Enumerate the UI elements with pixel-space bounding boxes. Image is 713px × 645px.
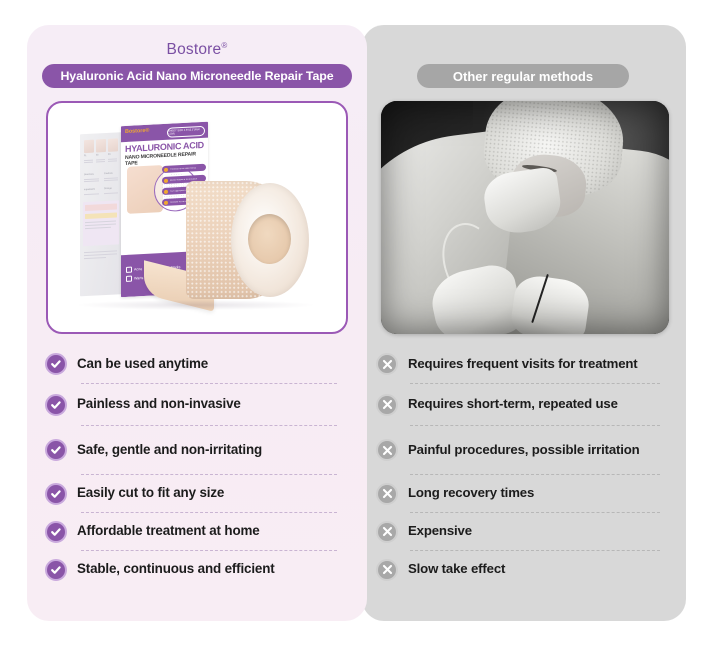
check-icon	[45, 483, 67, 505]
check-icon	[45, 394, 67, 416]
tape-roll-core	[248, 214, 291, 264]
list-item-label: Affordable treatment at home	[77, 524, 260, 539]
list-item-label: Long recovery times	[408, 486, 534, 501]
cross-icon	[376, 521, 398, 543]
box-use: Acne	[126, 266, 142, 273]
box-use-label: Acne	[134, 267, 142, 271]
leaf-icon	[126, 267, 132, 273]
box-use: Warts	[126, 275, 143, 282]
bullet-dot	[164, 189, 168, 193]
product-shadow	[78, 300, 313, 310]
box-size-chip: SHEET SIZE 1.6"x3.1"(Roll 5.5M)	[167, 126, 205, 138]
list-item-label: Easily cut to fit any size	[77, 486, 224, 501]
list-item: Safe, gentle and non-irritating	[45, 426, 351, 474]
drawbacks-list: Requires frequent visits for treatment R…	[376, 345, 674, 588]
product-title-pill: Hyaluronic Acid Nano Microneedle Repair …	[42, 64, 352, 88]
list-item: Requires short-term, repeated use	[376, 384, 674, 425]
list-item-label: Safe, gentle and non-irritating	[77, 443, 262, 458]
list-item: Painless and non-invasive	[45, 384, 351, 425]
list-item-label: Can be used anytime	[77, 357, 208, 372]
list-item-label: Painless and non-invasive	[77, 397, 241, 412]
list-item-label: Stable, continuous and efficient	[77, 562, 275, 577]
other-methods-title: Other regular methods	[453, 69, 593, 84]
list-item: Easily cut to fit any size	[45, 475, 351, 512]
list-item: Long recovery times	[376, 475, 674, 512]
check-icon	[45, 521, 67, 543]
cross-icon	[376, 559, 398, 581]
list-item: Painful procedures, possible irritation	[376, 426, 674, 474]
list-item: Can be used anytime	[45, 345, 351, 383]
check-icon	[45, 353, 67, 375]
box-brand: Bostore®	[125, 128, 149, 135]
box-use-label: Warts	[134, 276, 143, 280]
list-item: Slow take effect	[376, 551, 674, 588]
list-item-label: Slow take effect	[408, 562, 505, 577]
comparison-panel-other-methods: Other regular methods Requir	[362, 25, 686, 621]
infographic-root: Other regular methods Requir	[0, 0, 713, 645]
photo-vignette	[381, 101, 669, 334]
bullet-dot	[164, 167, 168, 171]
registered-mark: ®	[221, 41, 227, 50]
product-title: Hyaluronic Acid Nano Microneedle Repair …	[60, 69, 333, 83]
comparison-panel-product: Bostore® Hyaluronic Acid Nano Microneedl…	[27, 25, 367, 621]
brand-text: Bostore	[167, 41, 222, 58]
tape-roll	[186, 181, 308, 303]
list-item-label: Requires frequent visits for treatment	[408, 357, 638, 372]
brand-name: Bostore®	[27, 41, 367, 59]
cross-icon	[376, 394, 398, 416]
benefits-list: Can be used anytime Painless and non-inv…	[45, 345, 351, 588]
list-item: Affordable treatment at home	[45, 513, 351, 550]
check-icon	[45, 439, 67, 461]
list-item: Expensive	[376, 513, 674, 550]
procedure-photo	[381, 101, 669, 334]
list-item-label: Painful procedures, possible irritation	[408, 443, 640, 458]
cross-icon	[376, 483, 398, 505]
bullet-dot	[164, 178, 168, 182]
list-item: Stable, continuous and efficient	[45, 551, 351, 588]
box-feature-label: Painless & no side effects	[170, 167, 196, 170]
other-methods-title-pill: Other regular methods	[417, 64, 629, 88]
box-feature: Painless & no side effects	[162, 164, 206, 173]
list-item: Requires frequent visits for treatment	[376, 345, 674, 383]
product-box-side-panel: 01 02 03 Directions Cautions	[80, 132, 122, 296]
cross-icon	[376, 439, 398, 461]
bullet-dot	[164, 200, 168, 204]
list-item-label: Requires short-term, repeated use	[408, 397, 618, 412]
cross-icon	[376, 353, 398, 375]
product-image-card: 01 02 03 Directions Cautions	[46, 101, 348, 334]
list-item-label: Expensive	[408, 524, 472, 539]
check-icon	[45, 559, 67, 581]
leaf-icon	[126, 276, 132, 282]
